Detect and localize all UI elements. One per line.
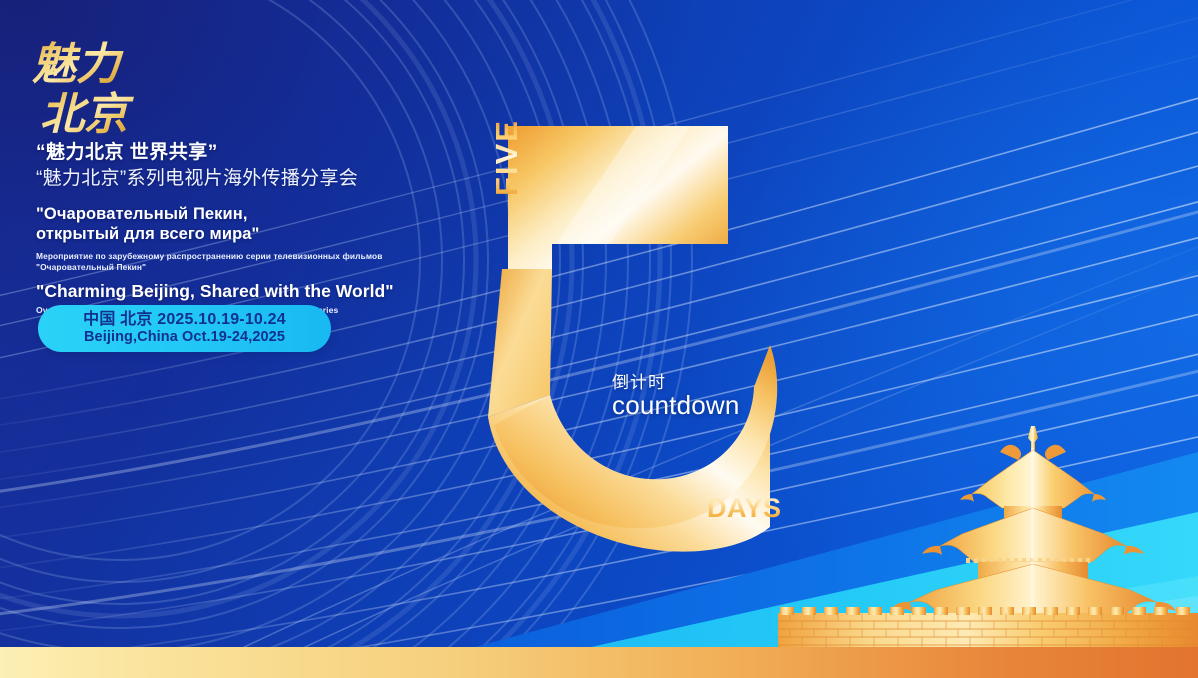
bottom-gold-bar [0,647,1198,678]
five-stem [488,269,552,417]
countdown-label-en: countdown [612,392,740,419]
city-wall-icon [778,605,1198,647]
countdown-number-word: FIVE [489,119,525,196]
logo-char-line1: 魅力 [32,39,124,90]
logo-char-line2: 北京 [40,89,134,140]
event-date-cn: 中国 北京 2025.10.19-10.24 [83,311,286,329]
headline-ru-subtitle-1: Мероприятие по зарубежному распространен… [36,251,436,262]
event-date-badge: 中国 北京 2025.10.19-10.24 Beijing,China Oct… [38,305,331,352]
charming-beijing-logo: 魅力 北京 [30,33,150,141]
headline-cn-title: “魅力北京 世界共享” [36,142,436,164]
countdown-poster: 魅力 北京 “魅力北京 世界共享” “魅力北京”系列电视片海外传播分享会 "Оч… [0,0,1198,678]
headline-en-title: "Charming Beijing, Shared with the World… [36,281,436,302]
headline-ru-subtitle-2: "Очаровательный Пекин" [36,262,436,273]
headline-cn-subtitle: “魅力北京”系列电视片海外传播分享会 [36,167,436,191]
headline-ru-title-1: "Очаровательный Пекин, [36,204,436,225]
headline-block: “魅力北京 世界共享” “魅力北京”系列电视片海外传播分享会 "Очароват… [36,142,436,316]
headline-ru-title-2: открытый для всего мира" [36,224,436,245]
event-date-en: Beijing,China Oct.19-24,2025 [84,329,285,346]
countdown-unit-days: DAYS [707,493,782,524]
countdown-label-cn: 倒计时 [612,374,740,391]
countdown-label: 倒计时 countdown [612,374,740,419]
